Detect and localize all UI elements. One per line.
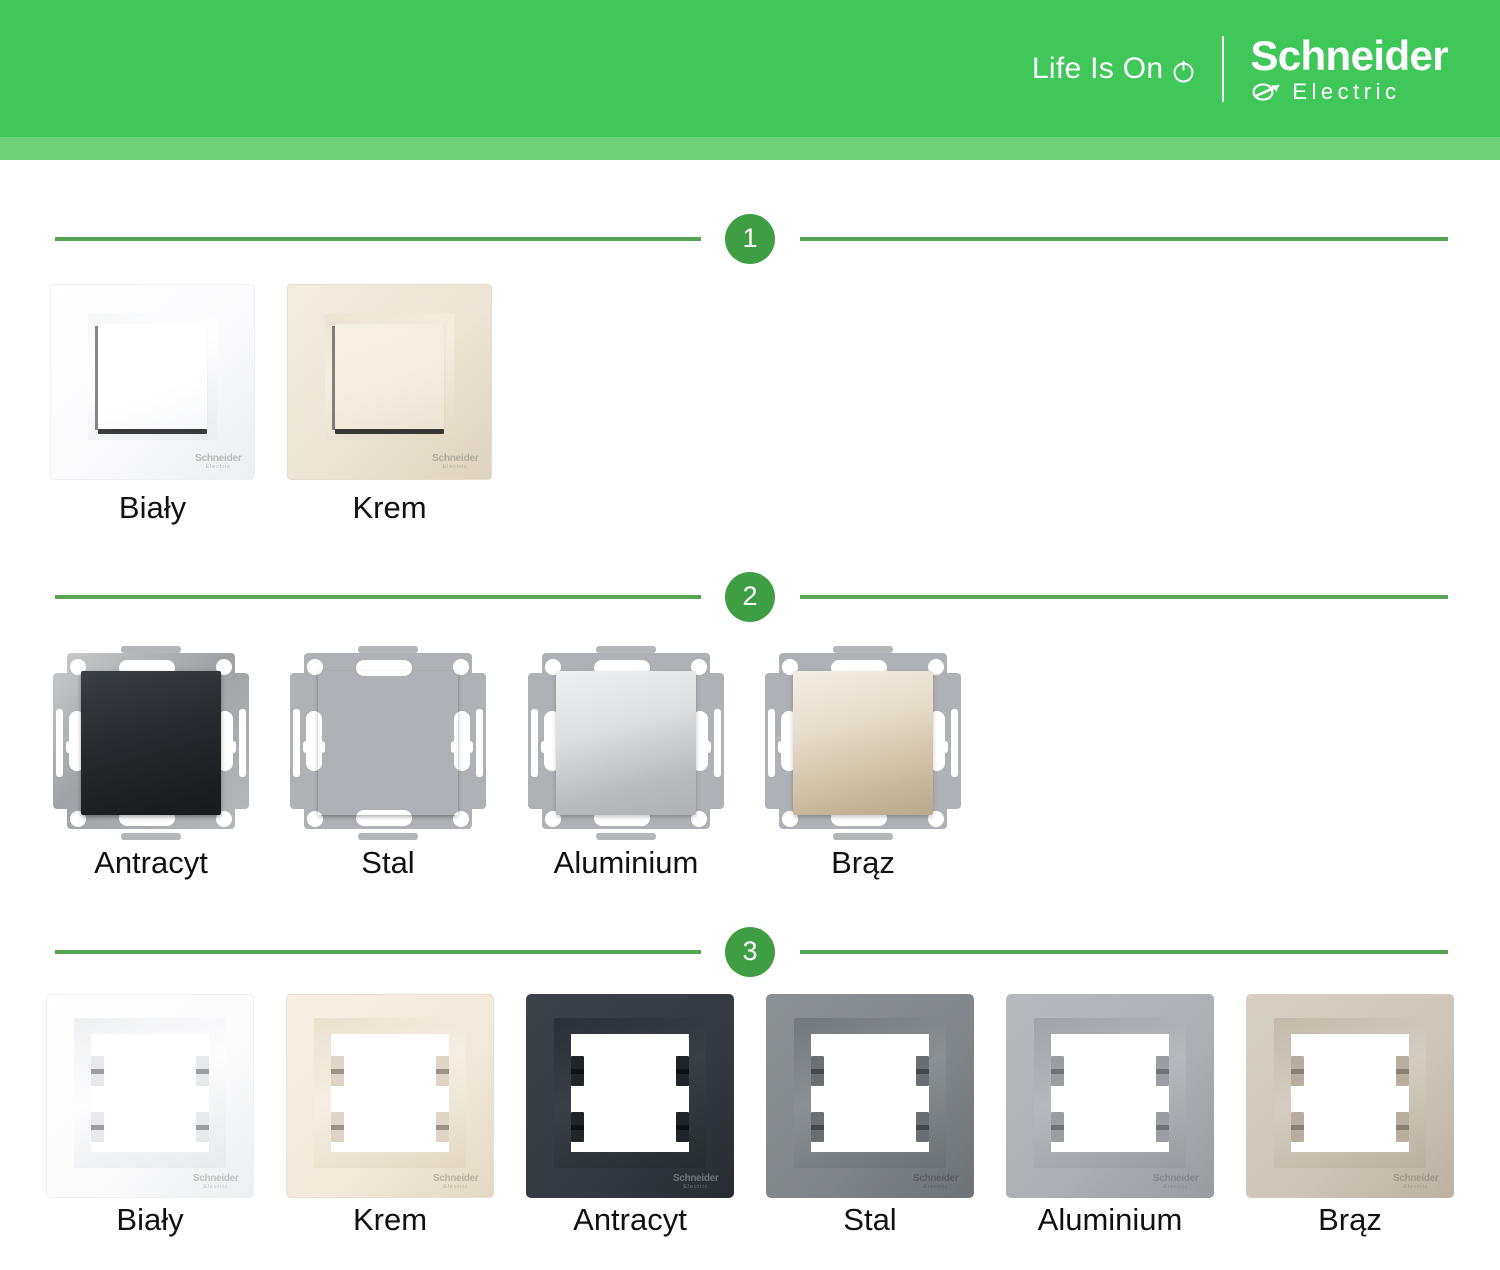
product-card-bialy-switch[interactable]: Schneider Electric Biały xyxy=(50,284,255,480)
switch-brand-name: Schneider xyxy=(195,453,241,463)
switch-brand-mark: Schneider Electric xyxy=(195,453,241,470)
schneider-electric-text: Electric xyxy=(1292,81,1400,103)
frame-graphic: Schneider Electric xyxy=(1006,994,1214,1198)
frame-clip xyxy=(1291,1056,1304,1086)
frame-clip xyxy=(1156,1112,1169,1142)
frame-clip xyxy=(916,1112,929,1142)
mechanism-cover-plate[interactable] xyxy=(793,671,933,815)
frame-brand-mark: Schneider Electric xyxy=(673,1174,718,1190)
mechanism-graphic xyxy=(528,645,724,841)
frame-graphic: Schneider Electric xyxy=(286,994,494,1198)
mechanism-graphic xyxy=(290,645,486,841)
product-label: Biały xyxy=(46,1202,254,1238)
frame-brand-sub: Electric xyxy=(1163,1185,1188,1190)
switch-rocker[interactable] xyxy=(335,324,444,430)
frame-graphic: Schneider Electric xyxy=(1246,994,1454,1198)
product-label: Stal xyxy=(766,1202,974,1238)
frame-clip xyxy=(571,1056,584,1086)
frame-brand-name: Schneider xyxy=(1393,1174,1438,1184)
mechanism-graphic xyxy=(765,645,961,841)
schneider-electric-line: Electric xyxy=(1252,81,1400,103)
frame-opening xyxy=(1051,1034,1169,1152)
frame-clip xyxy=(1396,1112,1409,1142)
frame-clip xyxy=(331,1056,344,1086)
mechanism-cover-plate[interactable] xyxy=(318,671,458,815)
switch-brand-name: Schneider xyxy=(432,453,478,463)
product-label: Aluminium xyxy=(528,845,724,881)
frame-brand-sub: Electric xyxy=(203,1185,228,1190)
product-label: Krem xyxy=(287,490,492,526)
divider-line-left xyxy=(55,237,701,241)
frame-clip xyxy=(811,1112,824,1142)
frame-clip xyxy=(1051,1056,1064,1086)
divider-line-right xyxy=(800,595,1448,599)
divider-line-left xyxy=(55,595,701,599)
product-card-aluminium-mechanism[interactable]: Aluminium xyxy=(528,645,724,841)
frame-brand-mark: Schneider Electric xyxy=(1153,1174,1198,1190)
section-divider-1: 1 xyxy=(0,214,1500,264)
product-row-frames: Schneider Electric Biały Schneider Elect… xyxy=(0,994,1500,1254)
schneider-wordmark: Schneider xyxy=(1250,35,1448,77)
frame-clip xyxy=(811,1056,824,1086)
section-divider-3: 3 xyxy=(0,927,1500,977)
product-label: Aluminium xyxy=(1006,1202,1214,1238)
frame-clip xyxy=(91,1112,104,1142)
product-label: Antracyt xyxy=(526,1202,734,1238)
power-icon xyxy=(1171,58,1196,83)
switch-graphic: Schneider Electric xyxy=(50,284,255,480)
life-is-on-tagline: Life Is On xyxy=(1032,52,1222,86)
frame-clip xyxy=(196,1056,209,1086)
frame-brand-name: Schneider xyxy=(433,1174,478,1184)
product-card-antracyt-frame[interactable]: Schneider Electric Antracyt xyxy=(526,994,734,1198)
product-card-aluminium-frame[interactable]: Schneider Electric Aluminium xyxy=(1006,994,1214,1198)
switch-graphic: Schneider Electric xyxy=(287,284,492,480)
product-card-antracyt-mechanism[interactable]: Antracyt xyxy=(53,645,249,841)
brand-divider xyxy=(1222,36,1224,102)
switch-bottom-shadow xyxy=(335,429,444,434)
frame-brand-sub: Electric xyxy=(923,1185,948,1190)
frame-brand-sub: Electric xyxy=(683,1185,708,1190)
schneider-se-mark-icon xyxy=(1252,82,1283,102)
switch-rocker[interactable] xyxy=(98,324,207,430)
product-card-krem-switch[interactable]: Schneider Electric Krem xyxy=(287,284,492,480)
life-is-on-text: Life Is On xyxy=(1032,52,1163,86)
frame-brand-name: Schneider xyxy=(913,1174,958,1184)
frame-clip xyxy=(1291,1112,1304,1142)
frame-graphic: Schneider Electric xyxy=(46,994,254,1198)
frame-clip xyxy=(1156,1056,1169,1086)
product-card-bialy-frame[interactable]: Schneider Electric Biały xyxy=(46,994,254,1198)
product-label: Antracyt xyxy=(53,845,249,881)
mechanism-cover-plate[interactable] xyxy=(81,671,221,815)
switch-brand-mark: Schneider Electric xyxy=(432,453,478,470)
frame-brand-mark: Schneider Electric xyxy=(193,1174,238,1190)
divider-line-right xyxy=(800,950,1448,954)
switch-brand-sub: Electric xyxy=(442,464,467,470)
frame-clip xyxy=(1051,1112,1064,1142)
frame-brand-mark: Schneider Electric xyxy=(1393,1174,1438,1190)
product-card-stal-mechanism[interactable]: Stal xyxy=(290,645,486,841)
product-label: Stal xyxy=(290,845,486,881)
switch-bottom-shadow xyxy=(98,429,207,434)
frame-clip xyxy=(196,1112,209,1142)
frame-brand-name: Schneider xyxy=(1153,1174,1198,1184)
frame-clip xyxy=(436,1056,449,1086)
frame-graphic: Schneider Electric xyxy=(766,994,974,1198)
product-row-mechanisms: Antracyt xyxy=(0,645,1500,895)
schneider-logo: Schneider Electric xyxy=(1224,35,1448,103)
section-badge-1-number: 1 xyxy=(725,214,775,264)
product-label: Biały xyxy=(50,490,255,526)
frame-clip xyxy=(1396,1056,1409,1086)
frame-brand-sub: Electric xyxy=(1403,1185,1428,1190)
frame-opening xyxy=(811,1034,929,1152)
page-root: Life Is On Schneider Electric xyxy=(0,0,1500,1270)
product-label: Krem xyxy=(286,1202,494,1238)
frame-clip xyxy=(436,1112,449,1142)
mechanism-graphic xyxy=(53,645,249,841)
mechanism-cover-plate[interactable] xyxy=(556,671,696,815)
frame-opening xyxy=(571,1034,689,1152)
frame-brand-sub: Electric xyxy=(443,1185,468,1190)
frame-clip xyxy=(676,1112,689,1142)
divider-line-left xyxy=(55,950,701,954)
section-badge-3-number: 3 xyxy=(725,927,775,977)
switch-brand-sub: Electric xyxy=(205,464,230,470)
section-badge-3: 3 xyxy=(719,927,781,977)
header-accent-strip xyxy=(0,137,1500,160)
section-divider-2: 2 xyxy=(0,572,1500,622)
product-label: Brąz xyxy=(765,845,961,881)
brand-lockup: Life Is On Schneider Electric xyxy=(1032,0,1448,137)
product-card-krem-frame[interactable]: Schneider Electric Krem xyxy=(286,994,494,1198)
product-card-braz-frame[interactable]: Schneider Electric Brąz xyxy=(1246,994,1454,1198)
frame-brand-mark: Schneider Electric xyxy=(913,1174,958,1190)
frame-graphic: Schneider Electric xyxy=(526,994,734,1198)
frame-clip xyxy=(676,1056,689,1086)
frame-opening xyxy=(331,1034,449,1152)
frame-clip xyxy=(571,1112,584,1142)
product-label: Brąz xyxy=(1246,1202,1454,1238)
section-badge-2-number: 2 xyxy=(725,572,775,622)
frame-brand-name: Schneider xyxy=(673,1174,718,1184)
divider-line-right xyxy=(800,237,1448,241)
product-row-switches: Schneider Electric Biały Schneider Elect… xyxy=(0,284,1500,534)
frame-clip xyxy=(916,1056,929,1086)
frame-brand-name: Schneider xyxy=(193,1174,238,1184)
frame-clip xyxy=(331,1112,344,1142)
section-badge-2: 2 xyxy=(719,572,781,622)
frame-clip xyxy=(91,1056,104,1086)
frame-opening xyxy=(91,1034,209,1152)
section-badge-1: 1 xyxy=(719,214,781,264)
product-card-braz-mechanism[interactable]: Brąz xyxy=(765,645,961,841)
product-card-stal-frame[interactable]: Schneider Electric Stal xyxy=(766,994,974,1198)
frame-brand-mark: Schneider Electric xyxy=(433,1174,478,1190)
frame-opening xyxy=(1291,1034,1409,1152)
